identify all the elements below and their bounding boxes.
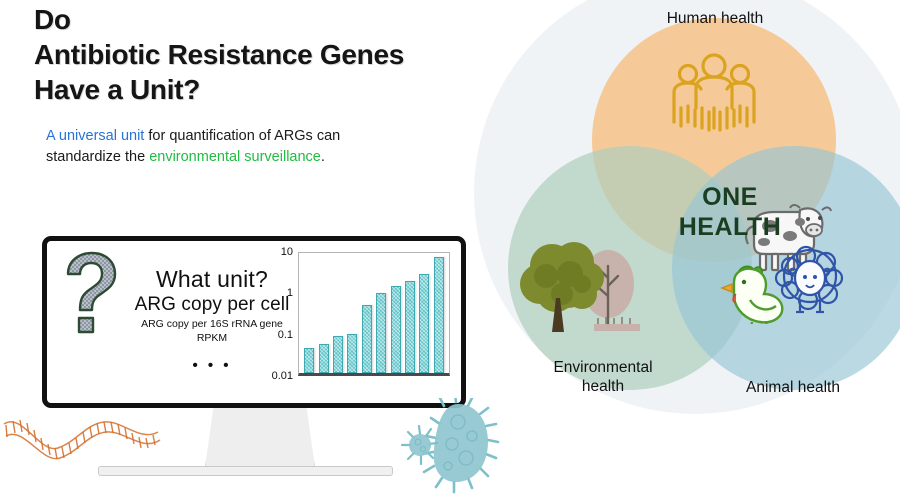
graphical-abstract: Do Antibiotic Resistance Genes Have a Un… [0,0,900,494]
chart-y-tick: 0.01 [272,370,293,382]
title-line-3: Have a Unit? [34,72,484,107]
one-health-line1: ONE [630,182,830,212]
one-health-line2: HEALTH [630,212,830,242]
title-line-2: Antibiotic Resistance Genes [34,37,484,72]
chart-bar [333,336,343,373]
chart-plot-area [298,252,450,376]
venn-label-environmental: Environmental health [498,358,708,396]
people-icon [668,52,760,136]
monitor-stand-neck [205,405,315,467]
chart-y-tick: 0.1 [278,329,293,341]
question-mark-icon [58,248,120,344]
venn-label-environmental-line1: Environmental [498,358,708,377]
chart-y-tick: 10 [281,246,293,258]
monitor-frame: What unit? ARG copy per cell ARG copy pe… [42,236,466,408]
page-title: Do Antibiotic Resistance Genes Have a Un… [34,2,484,107]
chart-bar [347,334,357,373]
chart-bar [362,305,372,373]
chart-bar [419,274,429,373]
chart-bar [434,257,444,373]
venn-label-animal: Animal health [678,378,900,397]
venn-label-environmental-line2: health [498,377,708,396]
chart-bar [304,348,314,373]
subtitle-highlight-green: environmental surveillance [149,149,321,165]
tree-icon [518,232,644,344]
subtitle-end: . [321,149,325,165]
subtitle: A universal unit for quantification of A… [46,126,376,167]
one-health-text: ONE HEALTH [630,182,830,242]
monitor-stand-base [98,466,393,476]
monitor-screen: What unit? ARG copy per cell ARG copy pe… [50,244,458,400]
chart-bar [391,286,401,373]
bar-chart: 1010.10.01 [262,252,458,398]
chart-bar [376,293,386,373]
title-line-1: Do [34,2,484,37]
bacteria-icon [400,398,512,494]
chart-y-axis: 1010.10.01 [262,252,296,376]
one-health-venn-diagram: Human health Environmental health Animal… [470,0,900,434]
chart-bar [405,281,415,373]
chart-bar [319,344,329,373]
subtitle-highlight-blue: A universal unit [46,128,144,144]
venn-label-human: Human health [580,9,850,28]
dna-helix-icon [0,408,172,470]
chart-bars [299,253,449,373]
chart-y-tick: 1 [287,287,293,299]
